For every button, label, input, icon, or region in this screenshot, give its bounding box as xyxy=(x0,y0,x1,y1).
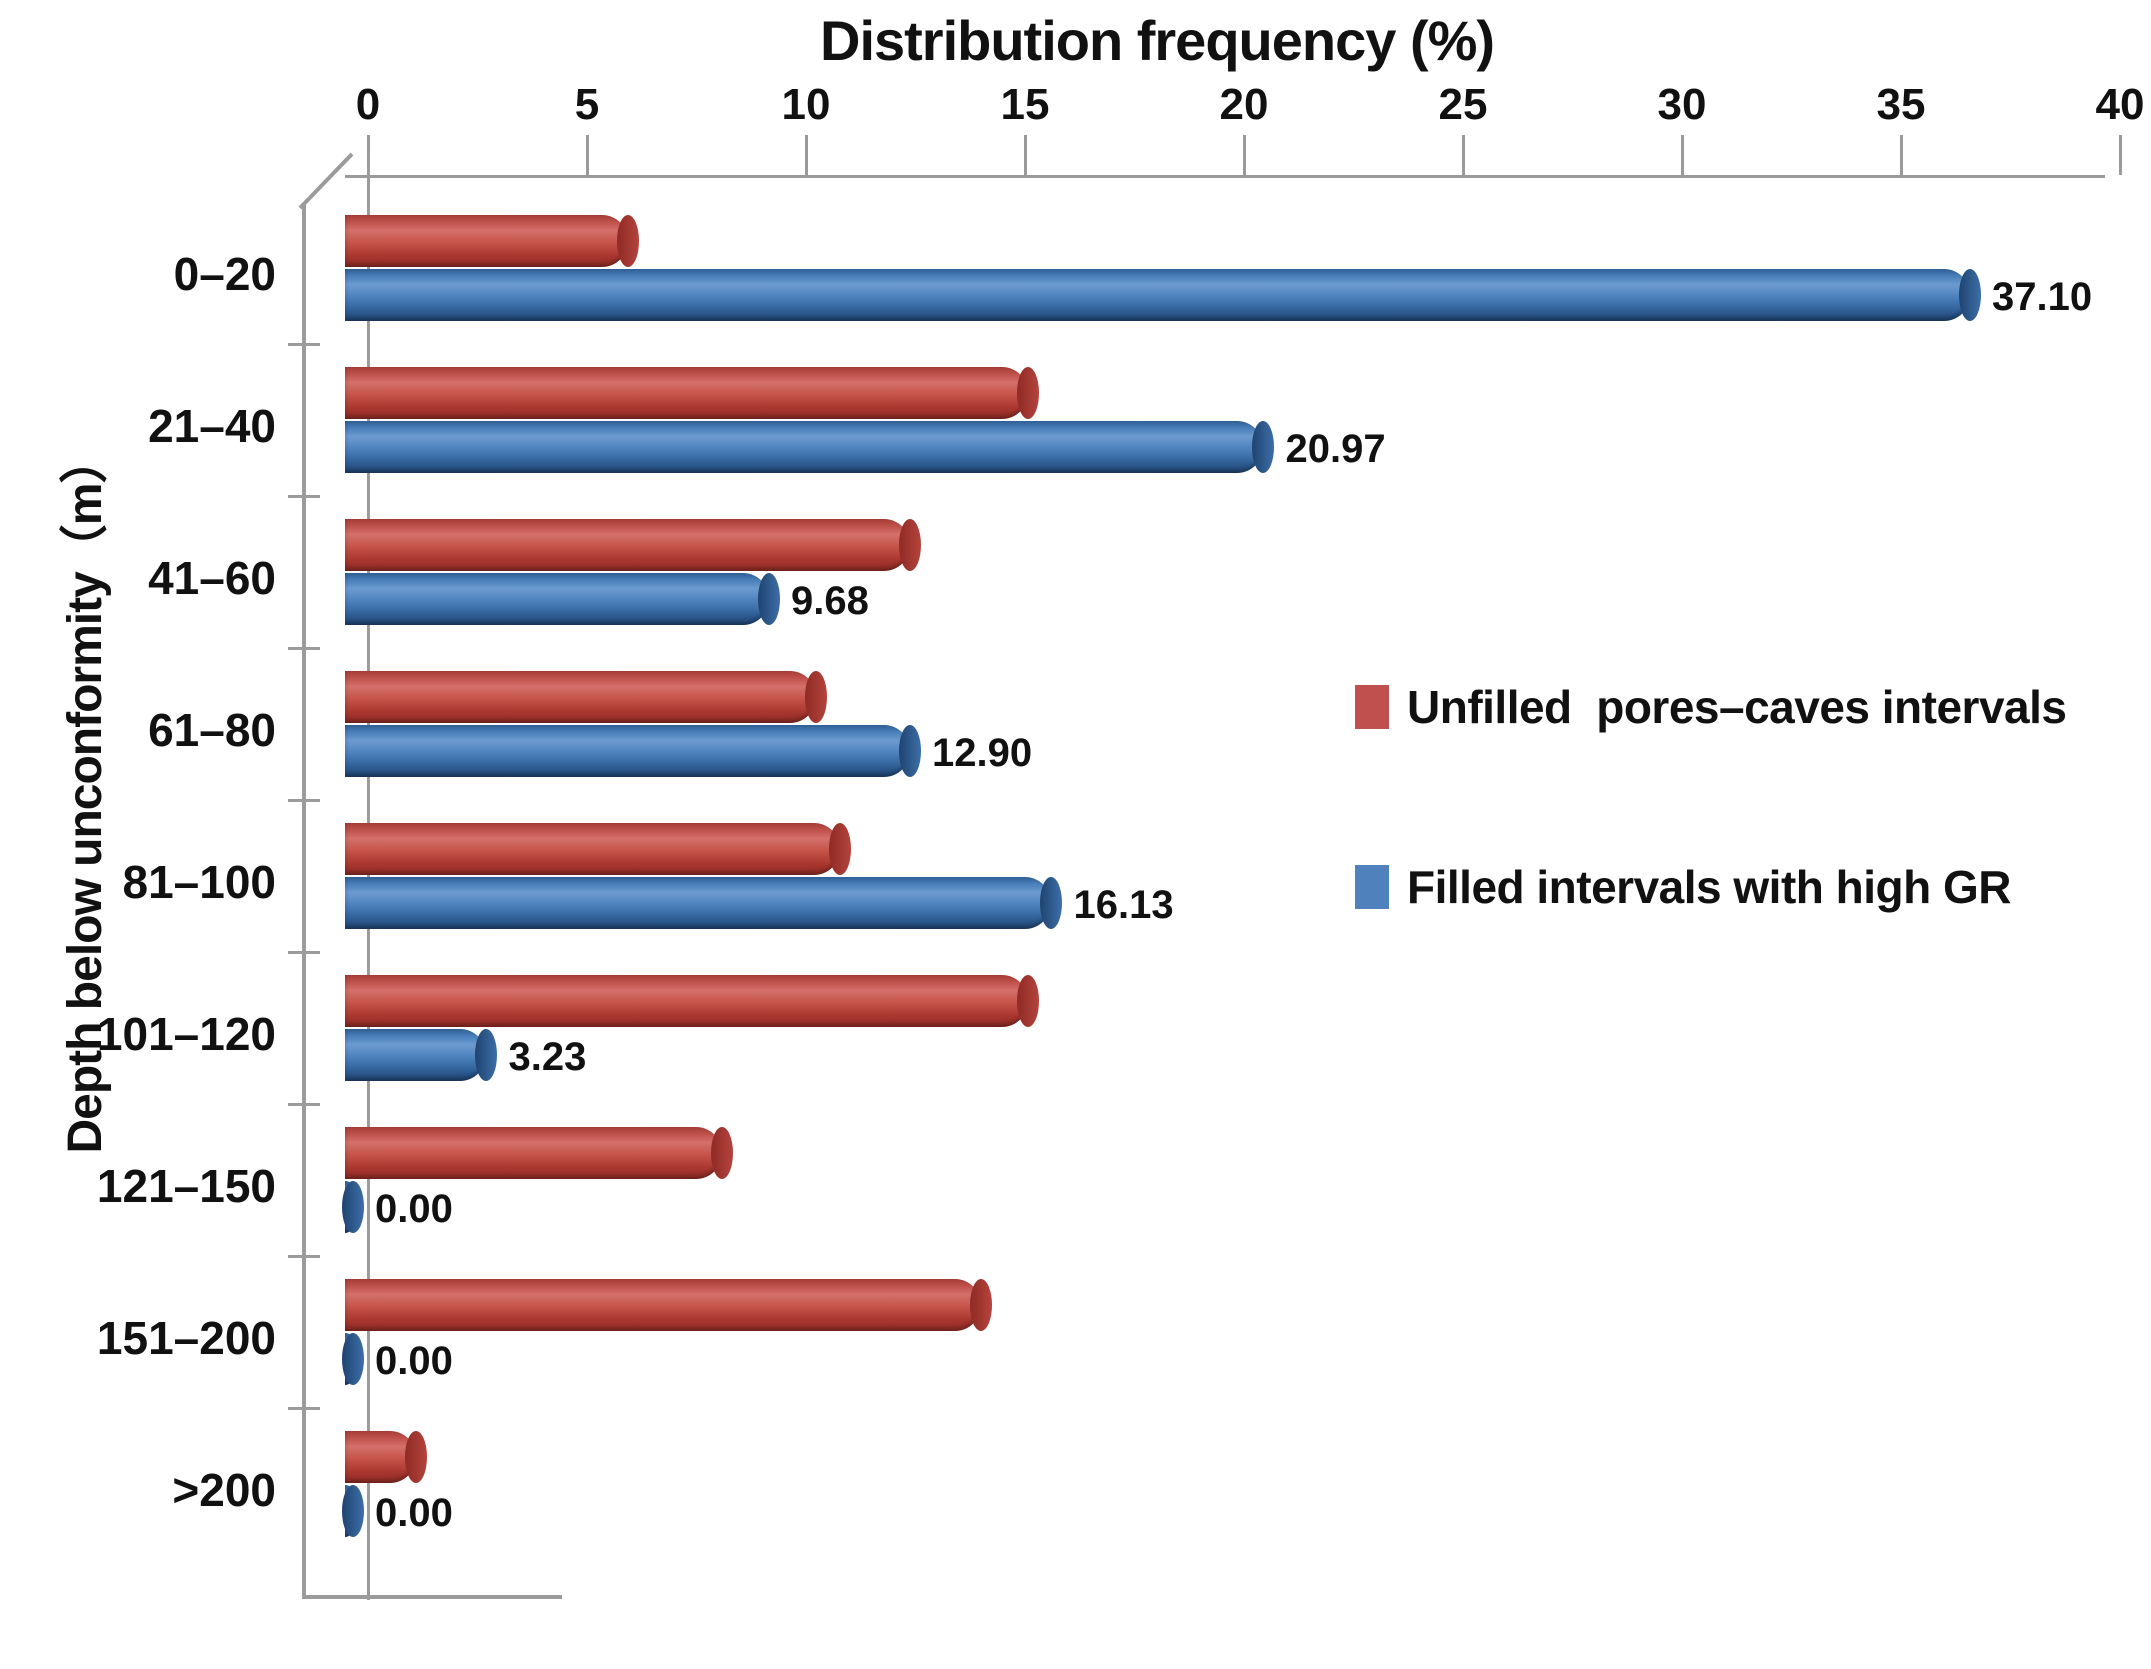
bar-cap xyxy=(342,1181,364,1233)
x-tick-label: 40 xyxy=(2096,80,2145,130)
bar-filled xyxy=(345,421,1263,473)
bar-unfilled xyxy=(345,823,840,875)
x-tick xyxy=(1681,135,1684,175)
legend-swatch-unfilled xyxy=(1355,685,1389,729)
bar-unfilled xyxy=(345,1127,722,1179)
bar-unfilled xyxy=(345,519,910,571)
bar-unfilled xyxy=(345,1431,416,1483)
bar-cap xyxy=(617,215,639,267)
y-tick xyxy=(288,799,320,802)
bar-value-label: 16.13 xyxy=(1073,883,1173,928)
x-tick-label: 0 xyxy=(356,80,380,130)
x-tick-label: 15 xyxy=(1001,80,1050,130)
bar-filled xyxy=(345,1485,353,1537)
bar-filled xyxy=(345,1333,353,1385)
bar-value-label: 3.23 xyxy=(508,1035,586,1080)
x-tick-label: 30 xyxy=(1658,80,1707,130)
bar-cap xyxy=(342,1333,364,1385)
y-tick-label: 101–120 xyxy=(97,1007,276,1061)
bar-body xyxy=(345,1127,722,1179)
y-tick-label: 21–40 xyxy=(148,399,276,453)
bar-cap xyxy=(970,1279,992,1331)
bar-cap xyxy=(1017,367,1039,419)
bar-cap xyxy=(829,823,851,875)
x-tick-label: 5 xyxy=(575,80,599,130)
bar-filled xyxy=(345,1181,353,1233)
bar-filled xyxy=(345,573,769,625)
bar-cap xyxy=(899,519,921,571)
bar-cap xyxy=(1252,421,1274,473)
x-tick-label: 35 xyxy=(1877,80,1926,130)
x-tick xyxy=(1462,135,1465,175)
legend-item-filled[interactable]: Filled intervals with high GR xyxy=(1355,860,2011,914)
bar-unfilled xyxy=(345,1279,981,1331)
bar-body xyxy=(345,367,1028,419)
bar-filled xyxy=(345,1029,486,1081)
bar-body xyxy=(345,671,816,723)
bar-cap xyxy=(405,1431,427,1483)
x-axis-line xyxy=(345,175,2105,178)
x-tick xyxy=(1900,135,1903,175)
x-tick xyxy=(586,135,589,175)
bar-filled xyxy=(345,725,910,777)
bar-filled xyxy=(345,269,1970,321)
x-tick xyxy=(1243,135,1246,175)
y-axis-title: Depth below unconformity（m） xyxy=(45,345,115,1245)
y-tick xyxy=(288,1407,320,1410)
y-tick xyxy=(288,495,320,498)
y-tick-label: 151–200 xyxy=(97,1311,276,1365)
y-tick xyxy=(288,647,320,650)
chart-title: Distribution frequency (%) xyxy=(820,8,1720,73)
plot-frame-diagonal xyxy=(296,150,356,210)
y-tick xyxy=(288,951,320,954)
y-tick xyxy=(288,1103,320,1106)
y-tick-label: 41–60 xyxy=(148,551,276,605)
bar-body xyxy=(345,725,910,777)
bar-body xyxy=(345,573,769,625)
bar-cap xyxy=(1017,975,1039,1027)
plot-frame-bottom xyxy=(302,1595,562,1599)
plot-frame-left xyxy=(302,205,306,1597)
y-tick-label: 0–20 xyxy=(174,247,276,301)
bar-cap xyxy=(1040,877,1062,929)
y-tick-label: >200 xyxy=(172,1463,276,1517)
bar-unfilled xyxy=(345,671,816,723)
bar-value-label: 37.10 xyxy=(1992,275,2092,320)
bar-unfilled xyxy=(345,975,1028,1027)
bar-cap xyxy=(899,725,921,777)
y-tick-label: 81–100 xyxy=(123,855,277,909)
bar-cap xyxy=(711,1127,733,1179)
bar-value-label: 20.97 xyxy=(1285,427,1385,472)
bar-body xyxy=(345,421,1263,473)
bar-body xyxy=(345,1279,981,1331)
legend-swatch-filled xyxy=(1355,865,1389,909)
bar-value-label: 0.00 xyxy=(375,1339,453,1384)
bar-filled xyxy=(345,877,1051,929)
x-tick-label: 20 xyxy=(1220,80,1269,130)
x-tick xyxy=(1024,135,1027,175)
y-tick xyxy=(288,343,320,346)
bar-body xyxy=(345,215,628,267)
x-tick xyxy=(805,135,808,175)
bar-unfilled xyxy=(345,215,628,267)
bar-body xyxy=(345,269,1970,321)
bar-cap xyxy=(805,671,827,723)
bar-value-label: 0.00 xyxy=(375,1491,453,1536)
y-tick-label: 61–80 xyxy=(148,703,276,757)
bar-body xyxy=(345,877,1051,929)
bar-cap xyxy=(475,1029,497,1081)
bar-cap xyxy=(758,573,780,625)
bar-value-label: 9.68 xyxy=(791,579,869,624)
bar-body xyxy=(345,975,1028,1027)
bar-body xyxy=(345,823,840,875)
x-tick xyxy=(2119,135,2122,175)
y-tick-label: 121–150 xyxy=(97,1159,276,1213)
bar-cap xyxy=(1959,269,1981,321)
chart-root: Distribution frequency (%) Depth below u… xyxy=(0,0,2151,1669)
legend-label-unfilled: Unfilled pores–caves intervals xyxy=(1407,680,2066,734)
x-tick-label: 25 xyxy=(1439,80,1488,130)
legend-label-filled: Filled intervals with high GR xyxy=(1407,860,2011,914)
legend-item-unfilled[interactable]: Unfilled pores–caves intervals xyxy=(1355,680,2066,734)
bar-unfilled xyxy=(345,367,1028,419)
bar-body xyxy=(345,1029,486,1081)
y-tick xyxy=(288,1255,320,1258)
bar-value-label: 0.00 xyxy=(375,1187,453,1232)
bar-cap xyxy=(342,1485,364,1537)
bar-value-label: 12.90 xyxy=(932,731,1032,776)
bar-body xyxy=(345,519,910,571)
x-tick-label: 10 xyxy=(782,80,831,130)
